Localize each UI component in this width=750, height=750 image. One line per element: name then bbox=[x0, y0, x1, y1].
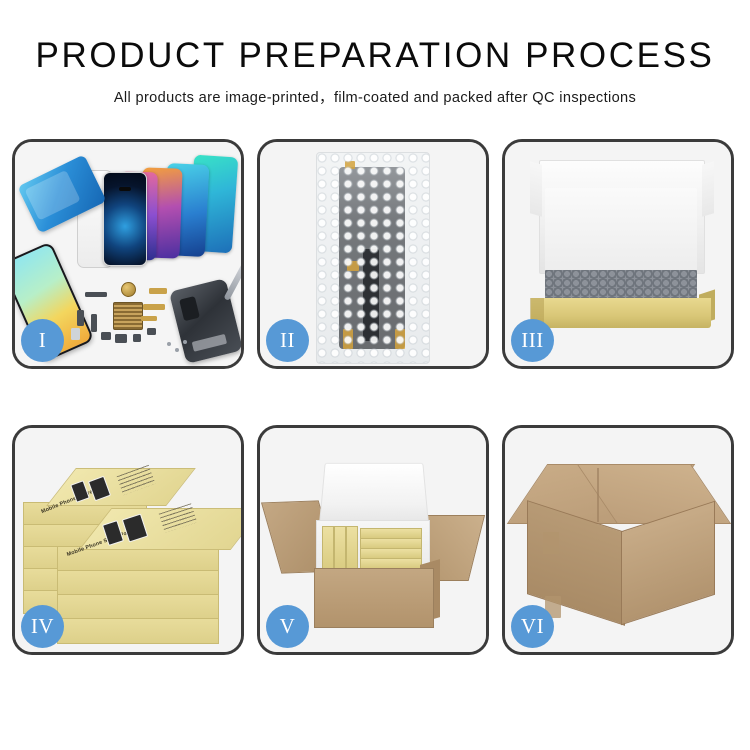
page-title: PRODUCT PREPARATION PROCESS bbox=[0, 38, 750, 75]
step-badge-2: II bbox=[266, 319, 309, 362]
carton-tape-upper bbox=[543, 532, 559, 554]
chip-part-1 bbox=[85, 292, 107, 297]
gold-connector-3 bbox=[141, 316, 157, 321]
chip-part-5 bbox=[115, 334, 127, 343]
step-badge-3: III bbox=[511, 319, 554, 362]
chip-part-2 bbox=[77, 310, 84, 326]
foam-lid bbox=[319, 463, 429, 525]
step-badge-1: I bbox=[21, 319, 64, 362]
screw-1 bbox=[167, 342, 171, 346]
carton-body-front bbox=[314, 568, 434, 628]
process-step-card-4: Mobile Phone Spare Parts Mobile Phone Sp… bbox=[12, 425, 244, 655]
page-header: PRODUCT PREPARATION PROCESS All products… bbox=[0, 0, 750, 107]
process-step-card-3: III bbox=[502, 139, 734, 369]
process-step-card-6: VI bbox=[502, 425, 734, 655]
step-badge-6: VI bbox=[511, 605, 554, 648]
screw-2 bbox=[175, 348, 179, 352]
page-subtitle: All products are image-printed，film-coat… bbox=[0, 86, 750, 107]
carton-top-seam bbox=[597, 468, 599, 522]
process-step-card-2: II bbox=[257, 139, 489, 369]
bubble-texture bbox=[317, 153, 429, 363]
vibrator-motor-part bbox=[121, 282, 136, 297]
sim-tray-part bbox=[71, 328, 80, 340]
inner-yellow-box-2 bbox=[334, 526, 346, 572]
foam-sheet bbox=[545, 188, 697, 272]
chip-part-7 bbox=[147, 328, 156, 335]
process-step-card-5: V bbox=[257, 425, 489, 655]
logic-board-part bbox=[113, 302, 143, 330]
stacked-box-f3 bbox=[57, 594, 219, 620]
bubble-wrap-bag bbox=[316, 152, 430, 364]
screw-3 bbox=[183, 340, 187, 344]
step-badge-4: IV bbox=[21, 605, 64, 648]
hero-phone-display bbox=[103, 172, 147, 266]
step-badge-5: V bbox=[266, 605, 309, 648]
stacked-box-f4 bbox=[57, 618, 219, 644]
process-step-card-1: I bbox=[12, 139, 244, 369]
chip-part-3 bbox=[91, 314, 97, 332]
process-step-grid: I II bbox=[12, 139, 738, 655]
chip-part-6 bbox=[133, 334, 141, 342]
kraft-box-front bbox=[531, 298, 711, 328]
gold-connector-1 bbox=[149, 288, 167, 294]
stacked-box-f2 bbox=[57, 570, 219, 596]
gold-connector-2 bbox=[143, 304, 165, 310]
bubble-wrapped-units bbox=[545, 270, 697, 300]
inner-yellow-box-3 bbox=[346, 526, 358, 572]
inner-yellow-box-1 bbox=[322, 526, 334, 572]
chip-part-4 bbox=[101, 332, 111, 340]
